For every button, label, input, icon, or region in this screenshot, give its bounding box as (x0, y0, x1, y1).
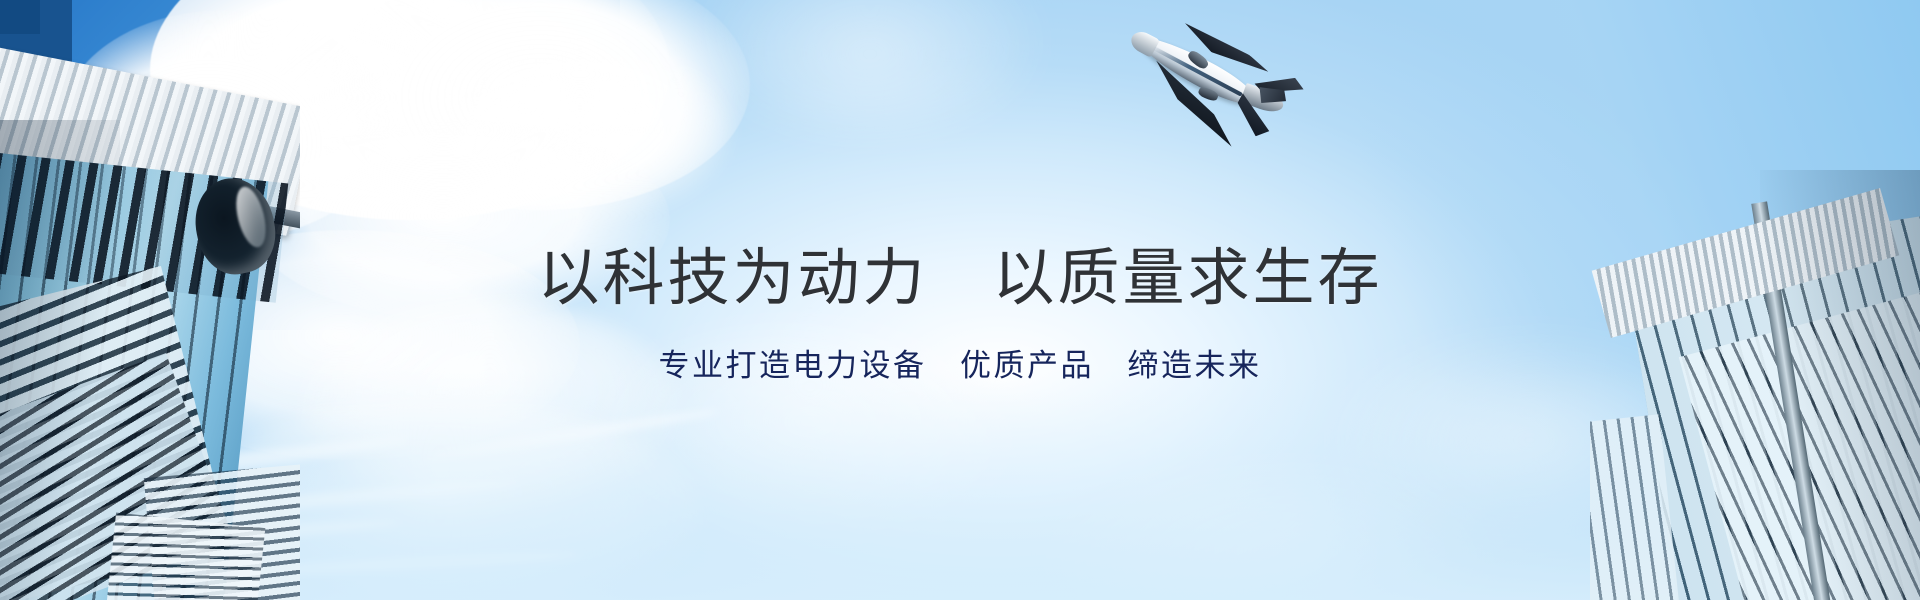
hero-banner: 以科技为动力 以质量求生存 专业打造电力设备 优质产品 缔造未来 (0, 0, 1920, 600)
banner-subheadline: 专业打造电力设备 优质产品 缔造未来 (659, 347, 1262, 384)
banner-headline: 以科技为动力 以质量求生存 (537, 244, 1382, 313)
banner-copy: 以科技为动力 以质量求生存 专业打造电力设备 优质产品 缔造未来 (0, 0, 1920, 600)
